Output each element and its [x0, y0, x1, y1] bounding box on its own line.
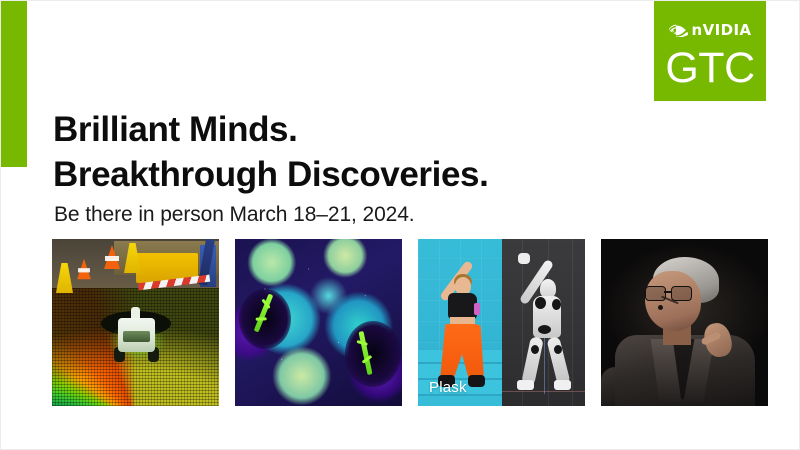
mannequin-joint	[552, 299, 561, 310]
viewport-gridline	[572, 239, 573, 406]
glasses-lens	[671, 286, 692, 301]
plask-video-reference: Plask	[418, 239, 502, 406]
gallery-item-molecule[interactable]	[235, 239, 402, 406]
mannequin-foot	[554, 380, 571, 390]
traffic-cone-icon	[77, 259, 91, 279]
gallery-item-plask[interactable]: Plask	[418, 239, 585, 406]
surface-speckles	[235, 239, 402, 406]
page-title: Brilliant Minds. Breakthrough Discoverie…	[53, 108, 488, 197]
green-accent-bar	[1, 1, 27, 167]
glasses-lens	[645, 286, 666, 301]
gtc-wordmark: GTC	[665, 47, 754, 90]
mannequin-hand	[518, 253, 530, 264]
nvidia-gtc-logo-block[interactable]: nVIDIA GTC	[654, 1, 766, 101]
mannequin-joint	[554, 345, 562, 354]
glasses-bridge	[664, 291, 671, 293]
nvidia-wordmark-text: nVIDIA	[692, 23, 752, 38]
microphone-icon	[658, 305, 663, 310]
gallery-item-keynote-speaker[interactable]	[601, 239, 768, 406]
mannequin-joint	[531, 345, 539, 354]
plask-3d-rig-preview	[502, 239, 585, 406]
event-date-subtitle: Be there in person March 18–21, 2024.	[54, 202, 415, 227]
mannequin-joint	[535, 297, 546, 309]
robot-screen	[123, 331, 150, 342]
dancer-crop-top	[448, 293, 477, 319]
mannequin-foot	[517, 380, 534, 390]
traffic-cone-icon	[104, 245, 120, 269]
dancer-shoe	[468, 375, 485, 387]
eyeglasses-icon	[645, 286, 693, 299]
mannequin-leg	[521, 336, 544, 386]
viewport-axis-line	[544, 335, 545, 394]
gallery-item-robot[interactable]	[52, 239, 219, 406]
headline-line-2: Breakthrough Discoveries.	[53, 153, 488, 197]
mannequin-joint	[538, 325, 551, 334]
gtc-promo-banner: nVIDIA GTC Brilliant Minds. Breakthrough…	[0, 0, 800, 450]
nvidia-wordmark-lockup: nVIDIA	[669, 22, 752, 38]
plask-watermark-label: Plask	[429, 379, 467, 396]
headline-line-1: Brilliant Minds.	[53, 108, 488, 152]
dancer-accent	[474, 303, 480, 315]
nvidia-eye-icon	[669, 23, 688, 37]
gallery-strip: Plask	[52, 239, 768, 406]
mannequin-leg	[546, 336, 570, 386]
